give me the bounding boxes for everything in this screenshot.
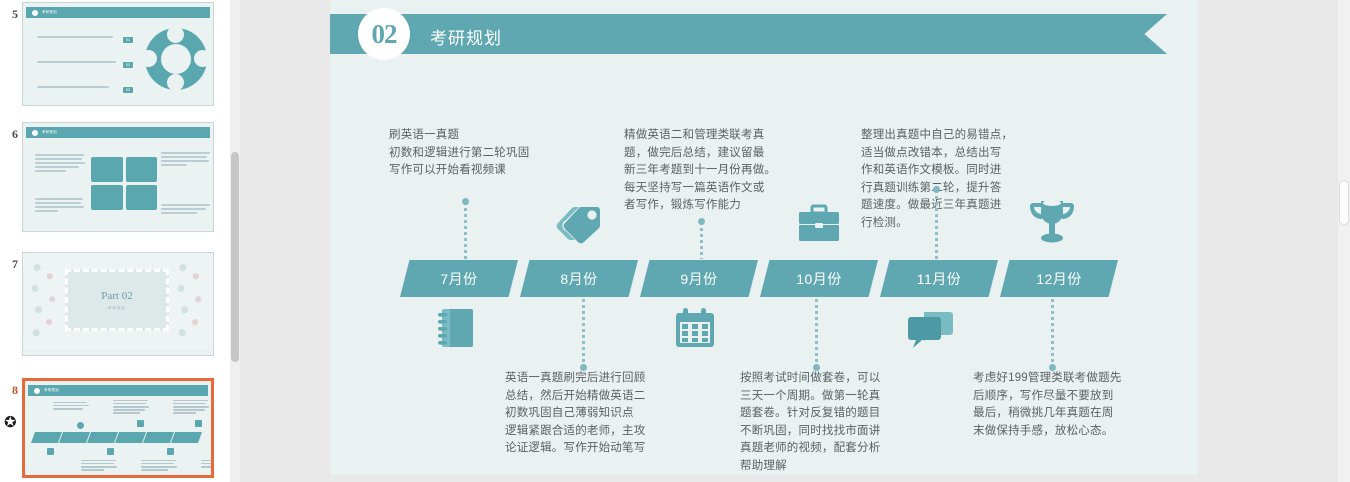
slide-thumbnail-6[interactable]: 6 考研规划 — [0, 122, 232, 232]
slide-header-number-badge: 02 — [358, 8, 410, 60]
slide-thumbnail-7-preview[interactable]: Part 02 考研规划 — [22, 252, 214, 356]
tag-icon — [553, 199, 605, 252]
mini-body — [25, 396, 211, 474]
slide-thumbnail-8[interactable]: 8 考研规划 — [0, 378, 232, 478]
slide-number-7: 7 — [0, 252, 22, 270]
mini-header: 考研规划 — [28, 385, 208, 396]
slide-thumbnail-5-preview[interactable]: 考研规划 01 02 03 04 — [22, 2, 214, 106]
month-label-12: 12月份 — [1036, 269, 1082, 289]
mini-header-circle — [33, 387, 41, 395]
trophy-icon — [1028, 197, 1076, 252]
month-arrow-10[interactable]: 10月份 — [760, 260, 878, 297]
month-label-8: 8月份 — [560, 269, 597, 289]
stamp-frame: Part 02 考研规划 — [65, 269, 169, 331]
mini-header: 考研规划 — [26, 127, 210, 138]
connector-line-august-bottom — [582, 299, 585, 367]
slide-number-5: 5 — [0, 2, 22, 20]
mini-header-circle — [31, 129, 39, 137]
slide-canvas-area: 02 考研规划 刷英语一真题 初数和逻辑进行第二轮巩固 写作可以开始看视频课 精… — [240, 0, 1350, 482]
text-block-august[interactable]: 精做英语二和管理类联考真 题，做完后总结，建议留最 新三年考题到十一月份再做。 … — [624, 127, 794, 215]
slide-header: 02 考研规划 — [330, 14, 1198, 54]
slide-number-6: 6 — [0, 122, 22, 140]
notebook-icon — [435, 306, 477, 357]
part-subtitle: 考研规划 — [108, 306, 126, 311]
canvas-right-gutter — [1198, 0, 1350, 482]
connector-line-december-bottom — [1051, 299, 1054, 367]
month-label-10: 10月份 — [796, 269, 842, 289]
month-arrow-11[interactable]: 11月份 — [880, 260, 998, 297]
connector-line-october-bottom — [815, 299, 818, 367]
month-arrow-12[interactable]: 12月份 — [1000, 260, 1118, 297]
thumbnail-pane-scrollbar[interactable] — [230, 0, 240, 482]
briefcase-icon — [796, 204, 842, 251]
mini-header-title: 考研规划 — [44, 388, 59, 393]
star-icon: ✪ — [4, 415, 20, 431]
connector-line-july — [464, 202, 467, 259]
connector-line-november — [935, 190, 938, 259]
current-slide[interactable]: 02 考研规划 刷英语一真题 初数和逻辑进行第二轮巩固 写作可以开始看视频课 精… — [330, 0, 1198, 475]
mini-body — [23, 138, 213, 228]
calendar-icon — [673, 307, 717, 356]
floral-decoration-left — [25, 257, 65, 345]
slide-thumbnail-6-preview[interactable]: 考研规划 — [22, 122, 214, 232]
text-block-august-bottom[interactable]: 英语一真题刷完后进行回顾 总结，然后开始精做英语二 初数巩固自己薄弱知识点 逻辑… — [505, 370, 680, 458]
connector-line-august — [700, 222, 703, 259]
timeline-month-row: 7月份 8月份 9月份 10月份 11月份 12月份 — [400, 260, 1120, 297]
month-label-7: 7月份 — [440, 269, 477, 289]
month-arrow-8[interactable]: 8月份 — [520, 260, 638, 297]
speech-bubbles-icon — [908, 310, 954, 355]
text-block-december-bottom[interactable]: 考虑好199管理类联考做题先 后顺序，写作尽量不要放到 最后，稍微挑几年真题在周… — [973, 370, 1153, 440]
slide-header-title: 考研规划 — [430, 24, 502, 49]
mini-header-circle — [31, 9, 39, 17]
month-arrow-7[interactable]: 7月份 — [400, 260, 518, 297]
thumbnail-scrollbar-thumb[interactable] — [231, 152, 239, 362]
mini-header-title: 考研规划 — [42, 10, 57, 15]
month-label-9: 9月份 — [680, 269, 717, 289]
canvas-left-gutter — [240, 0, 330, 482]
slide-thumbnail-5[interactable]: 5 考研规划 01 02 03 04 — [0, 2, 232, 106]
text-block-november[interactable]: 整理出真题中自己的易错点， 适当做点改错本，总结出写 作和英语作文模板。同时进 … — [861, 127, 1031, 232]
mini-body: 01 02 03 04 — [23, 18, 213, 106]
mini-header: 考研规划 — [26, 7, 210, 18]
floral-decoration-right — [171, 257, 211, 345]
slide-number-8: 8 — [0, 378, 22, 396]
month-label-11: 11月份 — [917, 269, 962, 289]
text-block-october-bottom[interactable]: 按照考试时间做套卷，可以 三天一个周期。做第一轮真 题套卷。针对反复错的题目 不… — [740, 370, 915, 475]
slide-header-number: 02 — [372, 19, 397, 50]
powerpoint-editor-window: 5 考研规划 01 02 03 04 — [0, 0, 1350, 482]
slide-thumbnail-pane[interactable]: 5 考研规划 01 02 03 04 — [0, 0, 240, 482]
slide-thumbnail-8-preview[interactable]: 考研规划 — [22, 378, 214, 478]
mini-header-title: 考研规划 — [42, 130, 57, 135]
text-block-july[interactable]: 刷英语一真题 初数和逻辑进行第二轮巩固 写作可以开始看视频课 — [389, 127, 569, 180]
canvas-scrollbar-thumb[interactable] — [1339, 180, 1349, 225]
month-arrow-9[interactable]: 9月份 — [640, 260, 758, 297]
slide-thumbnail-7[interactable]: 7 Part 02 考研规划 — [0, 252, 232, 356]
part-title: Part 02 — [101, 290, 132, 302]
canvas-scrollbar[interactable] — [1338, 0, 1350, 482]
